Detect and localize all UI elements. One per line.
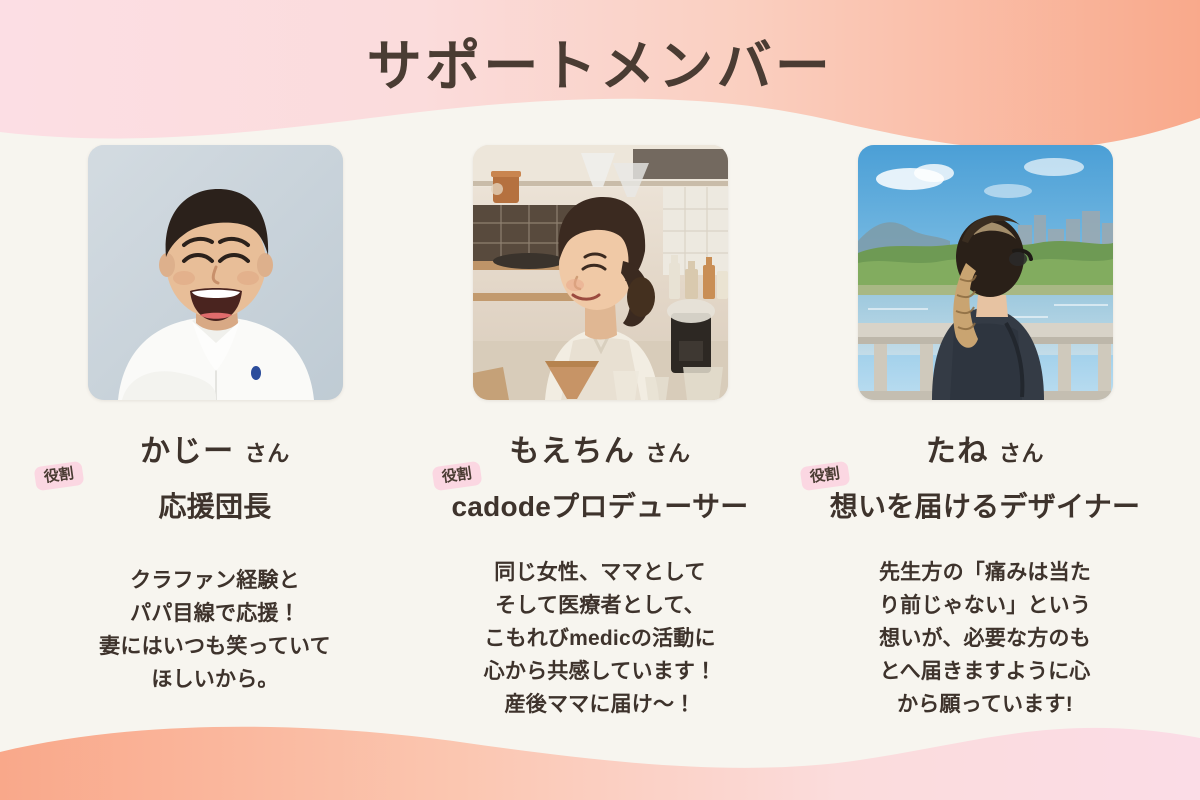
member-photo [88,145,343,400]
member-role-block: 役割 cadodeプロデューサー [408,490,793,524]
member-card: もえちん さん 役割 cadodeプロデューサー 同じ女性、ママとして そして医… [408,145,793,721]
member-role: cadodeプロデューサー [451,490,748,524]
member-role: 応援団長 [158,490,271,524]
member-honorific: さん [645,436,690,468]
member-name: もえちん [509,426,635,470]
member-role-block: 役割 想いを届けるデザイナー [793,490,1178,524]
member-role-block: 役割 応援団長 [23,490,408,524]
member-card: たね さん 役割 想いを届けるデザイナー 先生方の「痛みは当た り前じゃない」と… [793,145,1178,721]
member-name-row: たね さん [926,426,1044,470]
member-honorific: さん [245,436,290,468]
member-photo [858,145,1113,400]
member-role: 想いを届けるデザイナー [830,490,1141,524]
member-name-row: もえちん さん [509,426,690,470]
member-honorific: さん [999,436,1044,468]
member-comment: 先生方の「痛みは当た り前じゃない」という 想いが、必要な方のも とへ届きますよ… [879,556,1091,722]
member-card: かじー さん 役割 応援団長 クラファン経験と パパ目線で応援！ 妻にはいつも笑… [23,145,408,696]
member-name: かじー [140,426,235,470]
role-badge: 役割 [33,461,84,491]
photo-river-bridge-woman [858,145,1113,400]
member-name: たね [926,426,989,470]
role-badge: 役割 [431,461,482,491]
photo-cafe-woman [473,145,728,400]
photo-laughing-man [88,145,343,400]
member-comment: クラファン経験と パパ目線で応援！ 妻にはいつも笑っていて ほしいから。 [99,564,331,697]
member-photo [473,145,728,400]
role-badge: 役割 [799,461,850,491]
support-member-section: サポートメンバー [0,0,1200,800]
member-list: かじー さん 役割 応援団長 クラファン経験と パパ目線で応援！ 妻にはいつも笑… [0,145,1200,721]
member-name-row: かじー さん [140,426,290,470]
page-title: サポートメンバー [0,36,1200,97]
member-comment: 同じ女性、ママとして そして医療者として、 こもれびmedicの活動に 心から共… [484,556,717,722]
